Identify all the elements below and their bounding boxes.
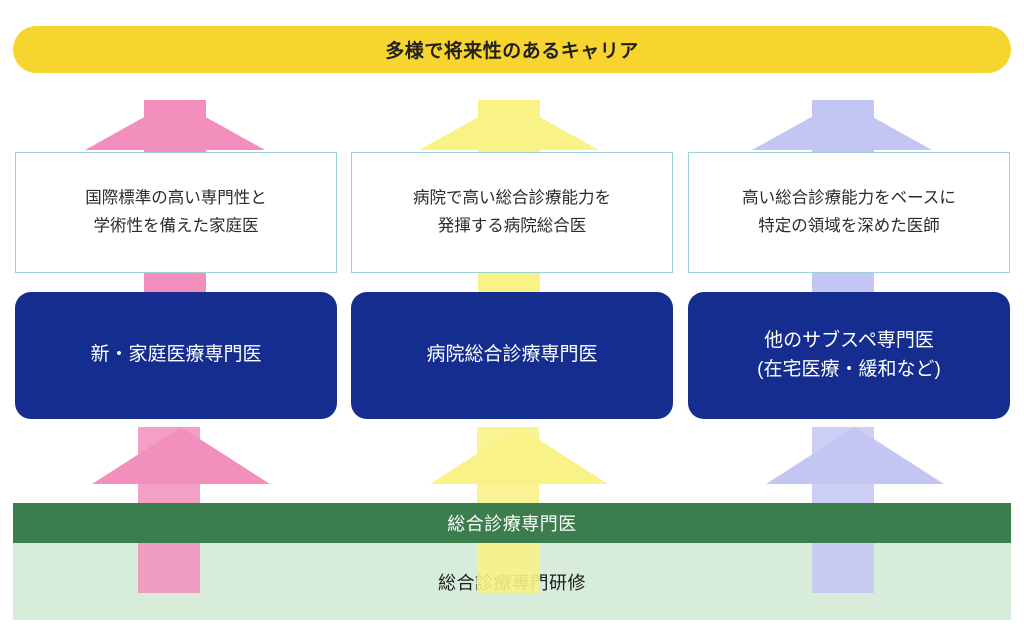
description-box-other-subspecialty: 高い総合診療能力をベースに 特定の領域を深めた医師: [688, 152, 1010, 273]
specialty-label-hospital-generalist: 病院総合診療専門医: [426, 341, 597, 370]
arrowhead-purple-lower: [766, 427, 944, 484]
arrowhead-pink-upper: [85, 100, 265, 150]
description-box-family-medicine: 国際標準の高い専門性と 学術性を備えた家庭医: [15, 152, 337, 273]
arrowhead-purple-upper: [752, 100, 932, 150]
career-banner-label: 多様で将来性のあるキャリア: [385, 36, 639, 63]
description-text-hospital-generalist: 病院で高い総合診療能力を 発揮する病院総合医: [413, 185, 611, 239]
arrow-upper-head-other-subspecialty: [752, 100, 932, 150]
arrow-upper-head-family-medicine: [85, 100, 265, 150]
arrowhead-yellow-lower: [430, 427, 608, 484]
arrow-lower-head-hospital-generalist: [430, 427, 608, 484]
description-text-other-subspecialty: 高い総合診療能力をベースに 特定の領域を深めた医師: [742, 185, 956, 239]
specialty-box-family-medicine: 新・家庭医療専門医: [15, 292, 337, 419]
specialty-label-family-medicine: 新・家庭医療専門医: [90, 341, 261, 370]
arrowhead-yellow-upper: [419, 100, 599, 150]
certified-label: 総合診療専門医: [447, 510, 577, 536]
arrow-lower-head-other-subspecialty: [766, 427, 944, 484]
arrowhead-pink-lower: [92, 427, 270, 484]
certified-bar: 総合診療専門医: [13, 503, 1011, 543]
specialty-label-other-subspecialty: 他のサブスペ専門医 (在宅医療・緩和など): [757, 327, 941, 384]
description-box-hospital-generalist: 病院で高い総合診療能力を 発揮する病院総合医: [351, 152, 673, 273]
specialty-box-other-subspecialty: 他のサブスペ専門医 (在宅医療・緩和など): [688, 292, 1010, 419]
career-pathway-diagram: 多様で将来性のあるキャリア 国際標準の高い専門性と 学術性を備えた家庭医 病院で…: [0, 0, 1024, 634]
arrow-lower-head-family-medicine: [92, 427, 270, 484]
specialty-box-hospital-generalist: 病院総合診療専門医: [351, 292, 673, 419]
arrow-upper-head-hospital-generalist: [419, 100, 599, 150]
description-text-family-medicine: 国際標準の高い専門性と 学術性を備えた家庭医: [85, 185, 267, 239]
career-banner: 多様で将来性のあるキャリア: [13, 26, 1011, 73]
